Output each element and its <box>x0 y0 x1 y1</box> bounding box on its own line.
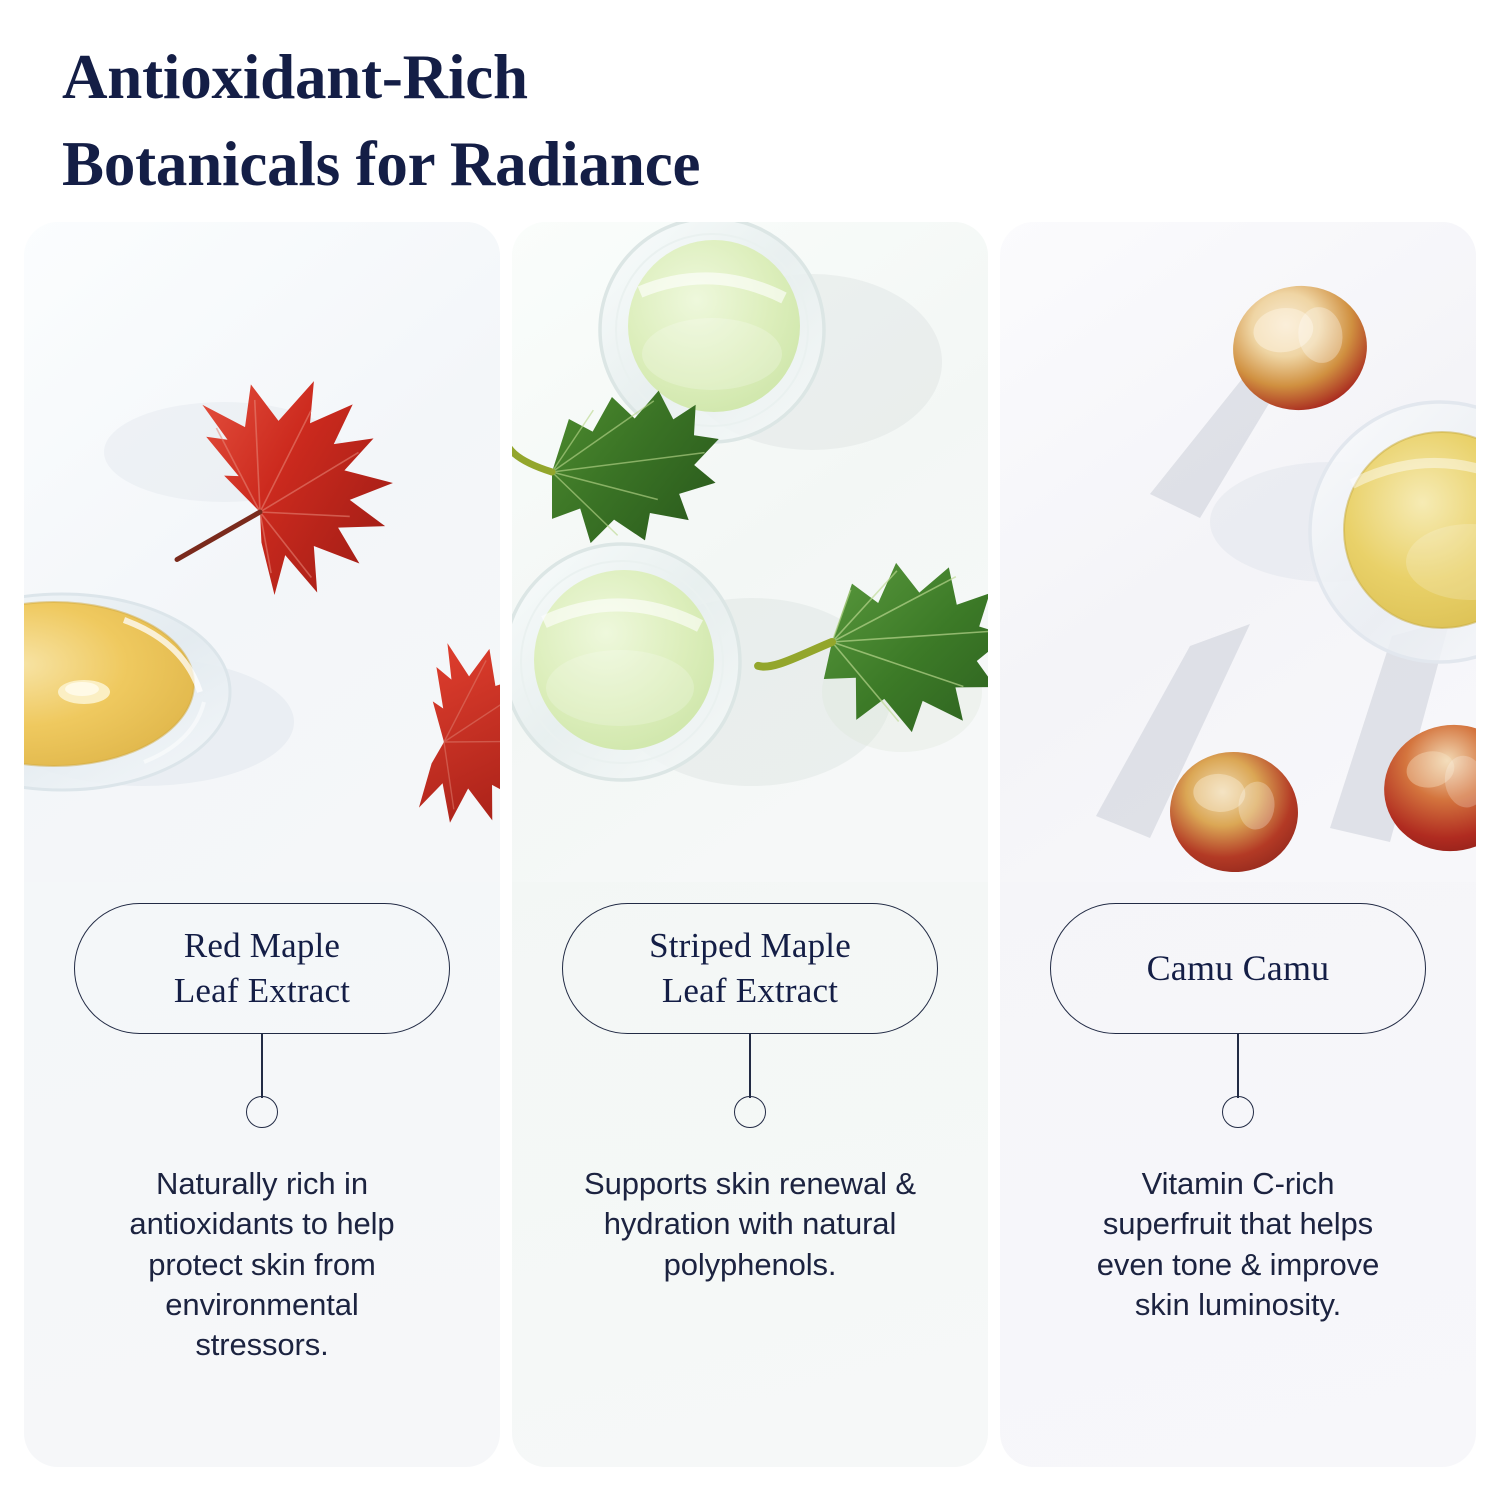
ingredient-description: Naturally rich in antioxidants to help p… <box>77 1164 447 1365</box>
red-maple-photo <box>24 222 500 882</box>
camu-camu-photo <box>1000 222 1476 882</box>
infographic-page: Antioxidant-Rich Botanicals for Radiance <box>0 0 1500 1500</box>
connector-line <box>1237 1034 1239 1098</box>
ingredient-card-striped-maple[interactable]: Striped Maple Leaf Extract Supports skin… <box>512 222 988 1467</box>
page-title: Antioxidant-Rich Botanicals for Radiance <box>62 34 1062 208</box>
ingredient-card-camu-camu[interactable]: Camu Camu Vitamin C-rich superfruit that… <box>1000 222 1476 1467</box>
ingredient-card-red-maple[interactable]: Red Maple Leaf Extract Naturally rich in… <box>24 222 500 1467</box>
pill-connector <box>1218 1034 1258 1124</box>
ingredient-label-pill[interactable]: Camu Camu <box>1050 903 1426 1034</box>
striped-maple-photo <box>512 222 988 882</box>
connector-circle-icon <box>246 1096 278 1128</box>
ingredient-description: Vitamin C-rich superfruit that helps eve… <box>1053 1164 1423 1325</box>
ingredient-name: Camu Camu <box>1147 945 1330 991</box>
ingredient-label-pill[interactable]: Striped Maple Leaf Extract <box>562 903 938 1034</box>
pill-connector <box>730 1034 770 1124</box>
ingredient-description: Supports skin renewal & hydration with n… <box>565 1164 935 1285</box>
connector-circle-icon <box>1222 1096 1254 1128</box>
pill-connector <box>242 1034 282 1124</box>
ingredient-name: Striped Maple Leaf Extract <box>649 924 851 1014</box>
connector-circle-icon <box>734 1096 766 1128</box>
ingredient-label-pill[interactable]: Red Maple Leaf Extract <box>74 903 450 1034</box>
ingredient-card-row: Red Maple Leaf Extract Naturally rich in… <box>24 222 1476 1467</box>
ingredient-name: Red Maple Leaf Extract <box>174 924 350 1014</box>
connector-line <box>261 1034 263 1098</box>
connector-line <box>749 1034 751 1098</box>
